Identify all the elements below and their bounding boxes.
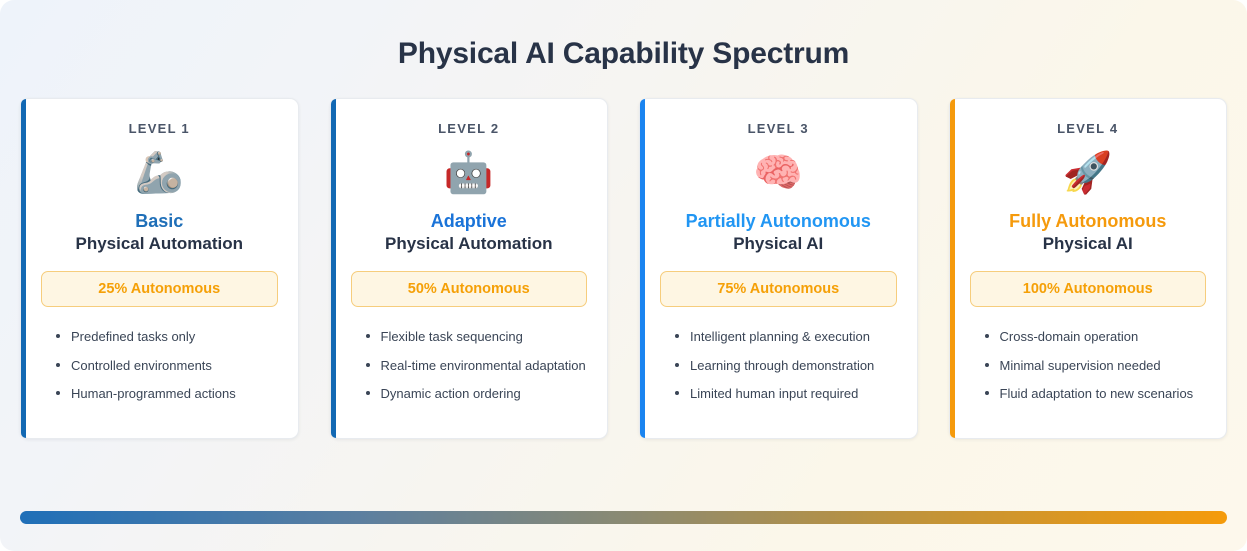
capability-name-primary: Partially Autonomous: [686, 210, 871, 233]
capability-name-secondary: Physical AI: [686, 233, 871, 255]
capability-name-secondary: Physical AI: [1009, 233, 1166, 255]
feature-list-item: Predefined tasks only: [55, 328, 278, 346]
feature-list: Predefined tasks onlyControlled environm…: [41, 328, 278, 403]
feature-list-item: Controlled environments: [55, 357, 278, 375]
card-accent-bar: [21, 99, 26, 438]
capability-name-block: Partially AutonomousPhysical AI: [686, 210, 871, 255]
card-accent-bar: [640, 99, 645, 438]
feature-list: Flexible task sequencingReal-time enviro…: [351, 328, 588, 403]
capability-name-primary: Basic: [75, 210, 243, 233]
level-card[interactable]: LEVEL 1🦾BasicPhysical Automation25% Auto…: [20, 98, 299, 439]
capability-name-primary: Fully Autonomous: [1009, 210, 1166, 233]
autonomy-badge: 25% Autonomous: [41, 271, 278, 307]
spectrum-bar-container: [20, 511, 1227, 524]
level-card[interactable]: LEVEL 3🧠Partially AutonomousPhysical AI7…: [639, 98, 918, 439]
feature-list-item: Human-programmed actions: [55, 385, 278, 403]
feature-list: Cross-domain operationMinimal supervisio…: [970, 328, 1207, 403]
autonomy-badge: 75% Autonomous: [660, 271, 897, 307]
flexed-biceps-mechanical-arm-emoji: 🦾: [134, 150, 184, 196]
page-title: Physical AI Capability Spectrum: [0, 0, 1247, 72]
level-label: LEVEL 2: [438, 121, 499, 136]
feature-list-item: Intelligent planning & execution: [674, 328, 897, 346]
capability-name-block: Fully AutonomousPhysical AI: [1009, 210, 1166, 255]
autonomy-spectrum-bar: [20, 511, 1227, 524]
feature-list-item: Minimal supervision needed: [984, 357, 1207, 375]
level-card[interactable]: LEVEL 2🤖AdaptivePhysical Automation50% A…: [330, 98, 609, 439]
autonomy-badge: 100% Autonomous: [970, 271, 1207, 307]
level-label: LEVEL 4: [1057, 121, 1118, 136]
feature-list-item: Flexible task sequencing: [365, 328, 588, 346]
card-accent-bar: [950, 99, 955, 438]
capability-name-primary: Adaptive: [385, 210, 553, 233]
level-card[interactable]: LEVEL 4🚀Fully AutonomousPhysical AI100% …: [949, 98, 1228, 439]
capability-name-block: BasicPhysical Automation: [75, 210, 243, 255]
level-label: LEVEL 1: [129, 121, 190, 136]
feature-list-item: Real-time environmental adaptation: [365, 357, 588, 375]
capability-name-secondary: Physical Automation: [75, 233, 243, 255]
feature-list-item: Learning through demonstration: [674, 357, 897, 375]
capability-name-block: AdaptivePhysical Automation: [385, 210, 553, 255]
feature-list-item: Limited human input required: [674, 385, 897, 403]
feature-list-item: Cross-domain operation: [984, 328, 1207, 346]
feature-list-item: Dynamic action ordering: [365, 385, 588, 403]
level-card-list: LEVEL 1🦾BasicPhysical Automation25% Auto…: [0, 98, 1247, 439]
feature-list: Intelligent planning & executionLearning…: [660, 328, 897, 403]
autonomy-badge: 50% Autonomous: [351, 271, 588, 307]
level-label: LEVEL 3: [748, 121, 809, 136]
rocket-emoji: 🚀: [1063, 150, 1113, 196]
card-accent-bar: [331, 99, 336, 438]
capability-spectrum-page: Physical AI Capability Spectrum LEVEL 1🦾…: [0, 0, 1247, 551]
robot-emoji: 🤖: [444, 150, 494, 196]
brain-emoji: 🧠: [753, 150, 803, 196]
capability-name-secondary: Physical Automation: [385, 233, 553, 255]
feature-list-item: Fluid adaptation to new scenarios: [984, 385, 1207, 403]
